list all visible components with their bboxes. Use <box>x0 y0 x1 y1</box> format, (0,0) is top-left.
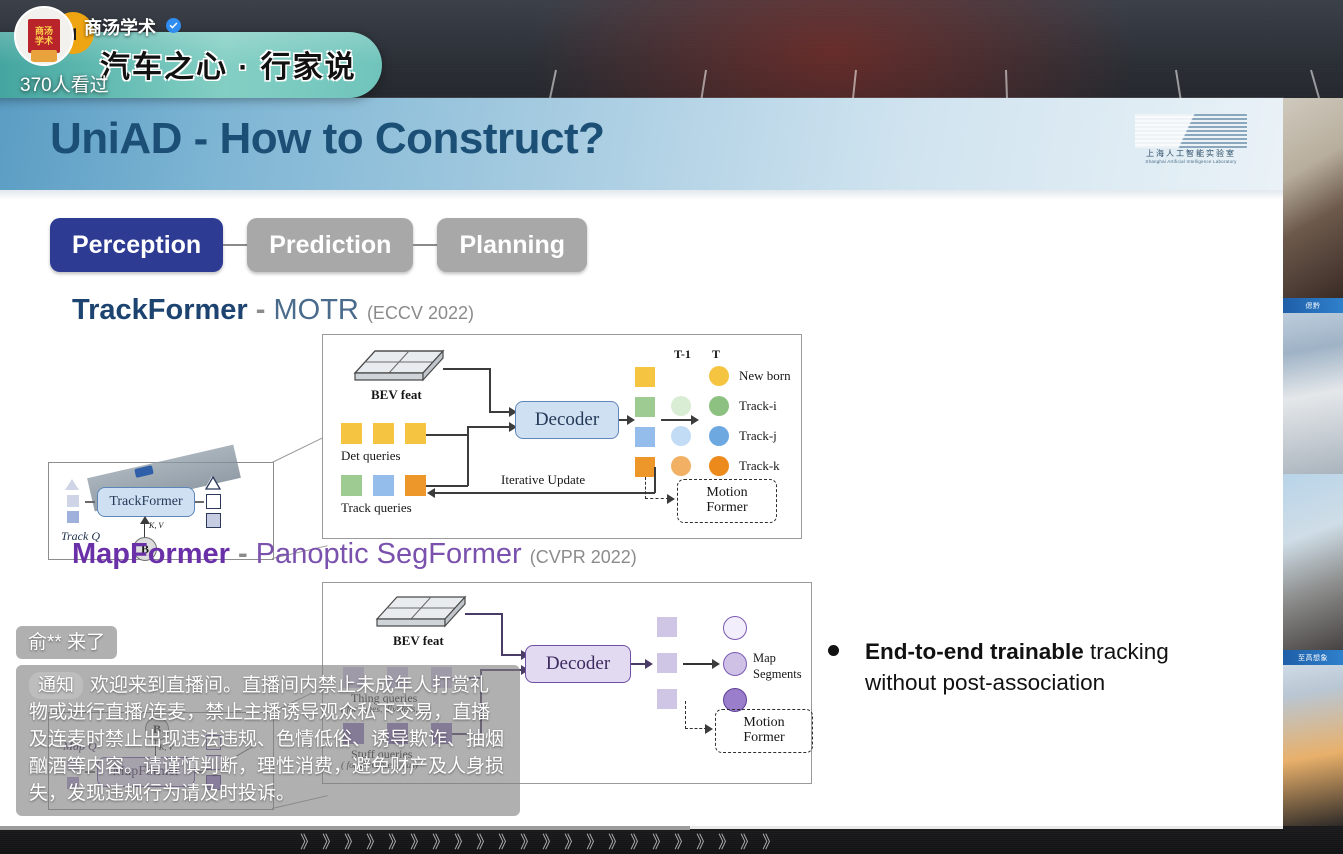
det-to-decoder-line <box>467 426 511 428</box>
chat-notice-text: 欢迎来到直播间。直播间内禁止未成年人打赏礼物或进行直播/连麦，禁止主播诱导观众私… <box>29 675 504 804</box>
chip-label: Perception <box>72 231 201 260</box>
bullet-dot-icon <box>828 645 839 656</box>
chat-overlay[interactable]: 俞** 来了 通知欢迎来到直播间。直播间内禁止未成年人打赏礼物或进行直播/连麦，… <box>16 626 520 822</box>
avatar-ribbon-icon <box>31 50 57 62</box>
chip-connector <box>223 244 247 246</box>
det-query-square <box>341 423 362 444</box>
kv-label: K, V <box>149 521 163 530</box>
time-col-label-tminus1: T-1 <box>674 347 691 362</box>
chip-perception[interactable]: Perception <box>50 218 223 272</box>
chevron-icon: 》 <box>740 828 756 853</box>
chevron-icon: 》 <box>410 828 426 853</box>
participant-video-1[interactable] <box>1283 98 1343 298</box>
chat-notice: 通知欢迎来到直播间。直播间内禁止未成年人打赏礼物或进行直播/连麦，禁止主播诱导观… <box>16 665 520 816</box>
bev-to-decoder-line <box>489 411 511 413</box>
chat-notice-tag: 通知 <box>29 672 83 699</box>
bottom-chevron-bar: 》》》》》》》》》》》》》》》》》》》》》》 <box>0 826 1343 854</box>
page-title: UniAD - How to Construct? <box>50 114 605 164</box>
map-output-square <box>657 653 677 673</box>
program-title: 汽车之心 · 行家说 <box>100 42 357 86</box>
legend-circle-newborn-t <box>709 366 729 386</box>
arrowhead <box>705 724 713 734</box>
legend-label-newborn: New born <box>739 368 791 384</box>
decoder-box: Decoder <box>525 645 631 683</box>
track-to-decoder-line <box>467 426 469 486</box>
arrowhead <box>427 488 435 498</box>
trackformer-box-label: TrackFormer <box>109 494 182 510</box>
shanghai-ai-lab-logo: 上海人工智能实验室 Shanghai Artificial Intelligen… <box>1131 114 1251 174</box>
chevron-icon: 》 <box>498 828 514 853</box>
chevron-icon: 》 <box>454 828 470 853</box>
participant-video-3[interactable] <box>1283 474 1343 650</box>
to-motionformer-line <box>645 498 669 499</box>
chip-prediction[interactable]: Prediction <box>247 218 413 272</box>
chevron-icon: 》 <box>388 828 404 853</box>
section-heading-trackformer: TrackFormer - MOTR (ECCV 2022) <box>72 294 474 327</box>
avatar[interactable]: 商汤 学术 <box>14 6 74 66</box>
legend-circle-track-k-t <box>709 456 729 476</box>
avatar-logo-icon: 商汤 学术 <box>28 19 60 53</box>
track-to-decoder-line <box>426 485 468 487</box>
output-square <box>206 513 221 528</box>
chevron-icon: 》 <box>608 828 624 853</box>
chat-message-text: 俞** 来了 <box>28 632 105 653</box>
chevron-icon: 》 <box>344 828 360 853</box>
output-square-track-j <box>635 427 655 447</box>
participant-video-rail[interactable]: 偲黔 至高想象 <box>1283 98 1343 826</box>
chevron-icon: 》 <box>586 828 602 853</box>
motion-former-line2: Former <box>743 731 784 746</box>
chevron-decoration: 》》》》》》》》》》》》》》》》》》》》》》 <box>0 828 778 853</box>
motion-former-box: Motion Former <box>715 709 813 753</box>
map-output-square <box>657 689 677 709</box>
output-square-track-k <box>635 457 655 477</box>
chevron-icon: 》 <box>762 828 778 853</box>
legend-circle-track-j-t <box>709 426 729 446</box>
chevron-icon: 》 <box>476 828 492 853</box>
decoder-box: Decoder <box>515 401 619 439</box>
legend-label-track-k: Track-k <box>739 458 780 474</box>
det-query-square <box>373 423 394 444</box>
chevron-icon: 》 <box>630 828 646 853</box>
chip-connector <box>413 244 437 246</box>
motion-former-line1: Motion <box>743 716 784 731</box>
output-square-track-i <box>635 397 655 417</box>
bev-feat-label: BEV feat <box>371 387 422 403</box>
det-queries-label: Det queries <box>341 448 401 464</box>
output-square <box>206 494 221 509</box>
iterative-update-line <box>435 492 655 494</box>
section-main: MapFormer <box>72 538 230 570</box>
track-queries-label: Track queries <box>341 500 412 516</box>
connector <box>195 501 204 503</box>
legend-label-track-j: Track-j <box>739 428 777 444</box>
iterative-update-line <box>654 467 656 493</box>
output-to-segments-line <box>683 663 715 665</box>
trackformer-diagram: BEV feat Det queries Track queries <box>322 334 802 539</box>
arrowhead <box>667 494 675 504</box>
motion-former-box: Motion Former <box>677 479 777 523</box>
to-motionformer-line <box>645 477 648 499</box>
chip-label: Prediction <box>269 231 391 260</box>
chevron-icon: 》 <box>322 828 338 853</box>
bev-to-decoder-line <box>443 368 491 370</box>
avatar-logo-line2: 学术 <box>35 36 53 46</box>
map-segment-circle <box>723 616 747 640</box>
query-triangle <box>65 479 79 490</box>
time-col-label-t: T <box>712 347 720 362</box>
map-output-square <box>657 617 677 637</box>
arrowhead <box>627 415 635 425</box>
chat-message: 俞** 来了 <box>16 626 117 659</box>
output-to-legend-line <box>661 419 693 421</box>
lab-logo-en: Shanghai Artificial Intelligence Laborat… <box>1131 159 1251 164</box>
section-venue: (ECCV 2022) <box>367 303 474 323</box>
decoder-label: Decoder <box>546 653 610 675</box>
participant-video-4-caption: 至高想象 <box>1283 650 1343 665</box>
legend-circle-track-k-tminus1 <box>671 456 691 476</box>
streamer-name: 商汤学术 <box>84 14 156 40</box>
connector <box>85 501 95 503</box>
chevron-icon: 》 <box>696 828 712 853</box>
chevron-icon: 》 <box>366 828 382 853</box>
det-query-square <box>405 423 426 444</box>
legend-circle-track-i-tminus1 <box>671 396 691 416</box>
arrowhead <box>712 659 720 669</box>
track-query-square <box>373 475 394 496</box>
query-square <box>67 511 79 523</box>
section-main: TrackFormer <box>72 294 248 326</box>
to-motionformer-line <box>685 701 686 729</box>
section-sep: - <box>256 294 266 326</box>
output-triangle-outline <box>205 476 219 488</box>
bev-feature-icon <box>353 349 445 385</box>
chevron-icon: 》 <box>300 828 316 853</box>
motion-former-line1: Motion <box>706 486 747 501</box>
chevron-icon: 》 <box>432 828 448 853</box>
section-sub: MOTR <box>274 294 359 326</box>
legend-circle-track-i-t <box>709 396 729 416</box>
lab-logo-cn: 上海人工智能实验室 <box>1131 148 1251 159</box>
to-motionformer-line <box>685 728 707 729</box>
section-heading-mapformer: MapFormer - Panoptic SegFormer (CVPR 202… <box>72 538 637 571</box>
section-venue: (CVPR 2022) <box>530 547 637 567</box>
iterative-update-label: Iterative Update <box>501 472 585 488</box>
det-to-decoder-line <box>426 434 468 436</box>
avatar-logo-line1: 商汤 <box>35 26 53 36</box>
participant-video-4[interactable]: 至高想象 <box>1283 650 1343 826</box>
legend-label-track-i: Track-i <box>739 398 777 414</box>
verified-badge-icon <box>166 18 181 33</box>
bev-to-decoder-line <box>489 368 491 412</box>
chevron-icon: 》 <box>542 828 558 853</box>
participant-video-2-caption: 偲黔 <box>1283 298 1343 313</box>
chip-label: Planning <box>459 231 565 260</box>
map-segments-label-line1: Map <box>753 651 776 666</box>
slide-header: UniAD - How to Construct? 上海人工智能实验室 Shan… <box>0 98 1283 190</box>
chip-planning[interactable]: Planning <box>437 218 587 272</box>
decoder-label: Decoder <box>535 409 599 431</box>
arrowhead <box>691 415 699 425</box>
legend-circle-track-j-tminus1 <box>671 426 691 446</box>
track-query-square <box>341 475 362 496</box>
pipeline-chips: Perception Prediction Planning <box>50 218 587 272</box>
chevron-icon: 》 <box>718 828 734 853</box>
bullet-trackformer: End-to-end trainable tracking without po… <box>828 636 1195 698</box>
zoom-fan-line <box>272 437 324 463</box>
participant-video-2[interactable]: 偲黔 <box>1283 298 1343 474</box>
chevron-icon: 》 <box>520 828 536 853</box>
section-sep: - <box>238 538 248 570</box>
bev-to-decoder-line <box>465 613 503 615</box>
viewer-count: 370人看过 <box>20 70 109 97</box>
chevron-icon: 》 <box>652 828 668 853</box>
query-square <box>67 495 79 507</box>
section-sub: Panoptic SegFormer <box>256 538 522 570</box>
track-query-square <box>405 475 426 496</box>
chevron-icon: 》 <box>564 828 580 853</box>
lab-logo-mark <box>1135 114 1247 148</box>
motion-former-line2: Former <box>706 501 747 516</box>
bullet-bold-text: End-to-end trainable <box>865 639 1084 664</box>
map-segments-label-line2: Segments <box>753 667 802 682</box>
output-square-newborn <box>635 367 655 387</box>
arrowhead <box>645 659 653 669</box>
trackformer-box: TrackFormer <box>97 487 195 517</box>
map-segment-circle <box>723 652 747 676</box>
bottom-white-strip <box>690 826 1283 829</box>
chevron-icon: 》 <box>674 828 690 853</box>
